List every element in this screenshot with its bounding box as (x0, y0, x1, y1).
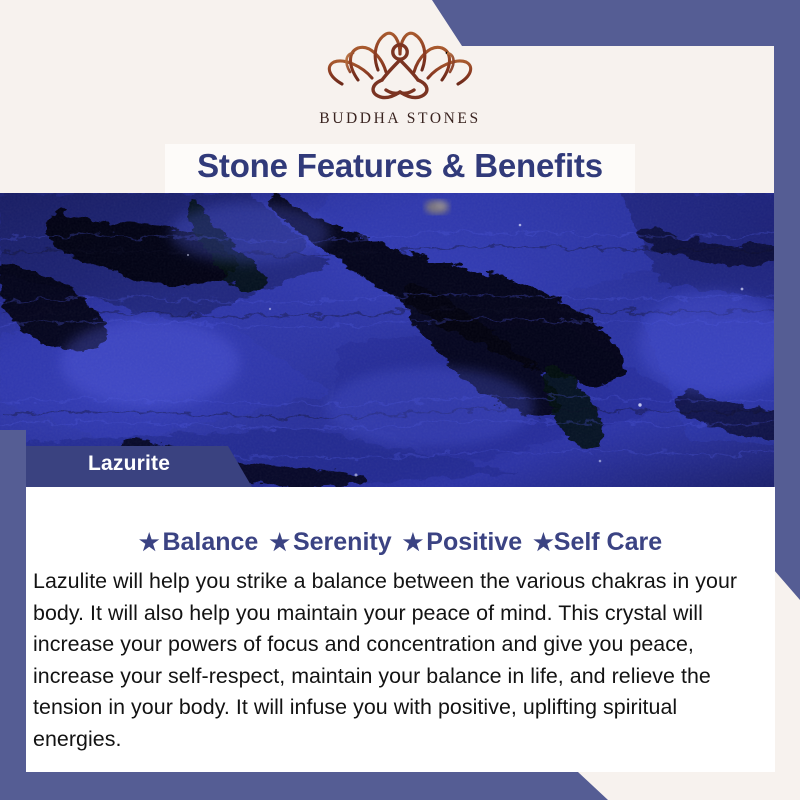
benefit-item-2: ★Serenity (269, 528, 391, 556)
benefit-item-4: ★Self Care (533, 528, 662, 556)
star-icon: ★ (533, 529, 554, 555)
stone-description: Lazulite will help you strike a balance … (33, 566, 749, 755)
benefit-item-3: ★Positive (403, 528, 523, 556)
benefit-label: Serenity (293, 528, 392, 556)
page-title: Stone Features & Benefits (0, 147, 800, 185)
stone-name: Lazurite (88, 452, 170, 476)
benefit-label: Positive (426, 528, 522, 556)
lazurite-stone-photo (0, 193, 800, 487)
star-icon: ★ (403, 529, 424, 555)
benefit-label: Self Care (554, 528, 662, 556)
frame-accent-left (0, 430, 26, 800)
star-icon: ★ (269, 529, 290, 555)
star-icon: ★ (139, 529, 160, 555)
benefit-label: Balance (162, 528, 258, 556)
brand-name: BUDDHA STONES (0, 110, 800, 128)
frame-accent-bottom (0, 772, 800, 800)
frame-accent-right (774, 0, 800, 600)
stone-features-poster: BUDDHA STONES Stone Features & Benefits … (0, 0, 800, 800)
benefit-item-1: ★Balance (139, 528, 259, 556)
benefits-list: ★Balance★Serenity★Positive★Self Care (26, 528, 775, 557)
